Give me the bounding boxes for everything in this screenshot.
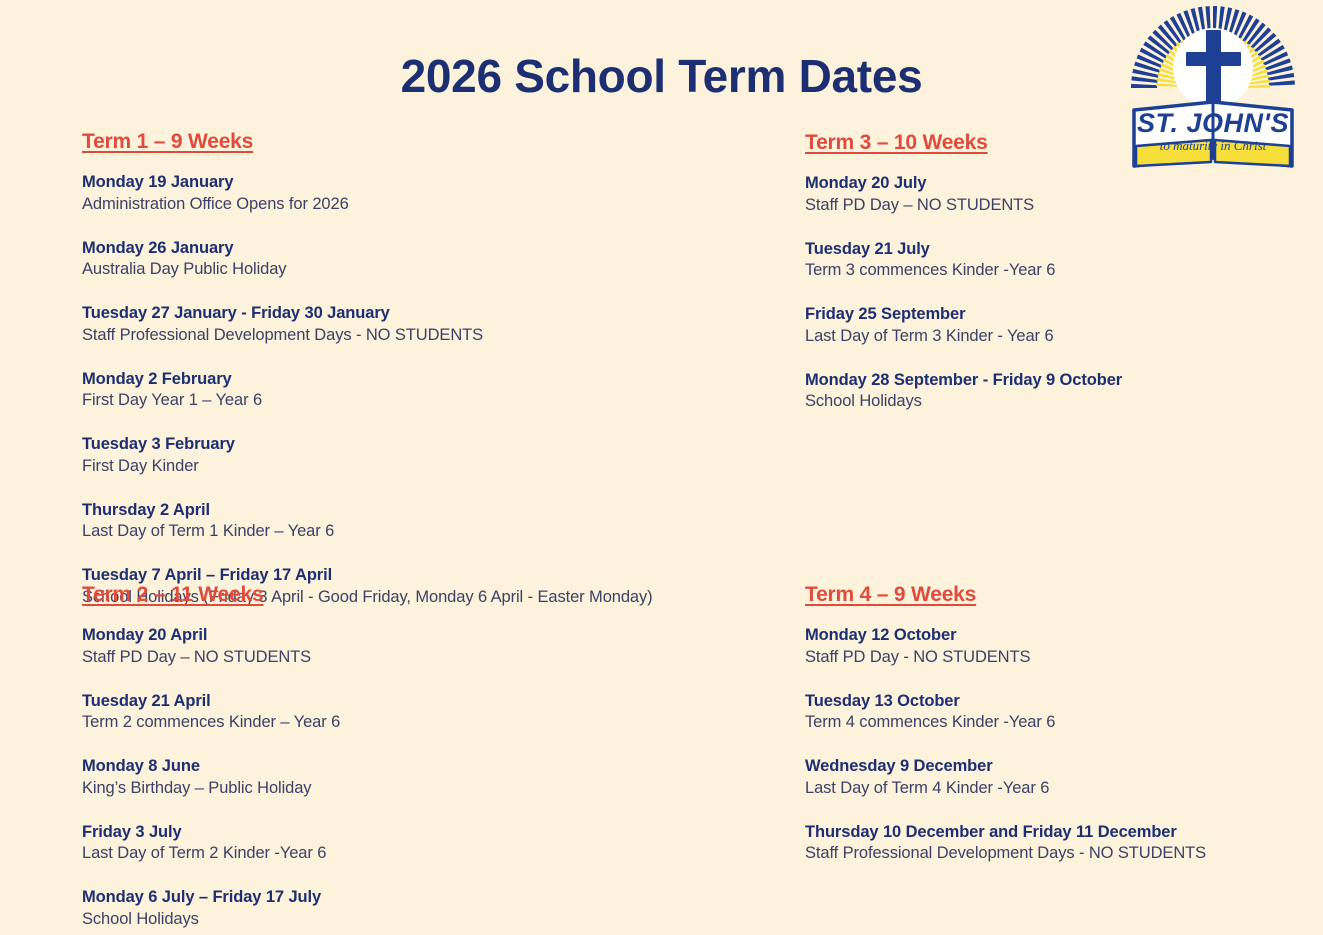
term-entry: Tuesday 13 October Term 4 commences Kind… bbox=[805, 691, 1305, 735]
term-entry: Tuesday 21 April Term 2 commences Kinder… bbox=[82, 691, 772, 735]
entry-date: Monday 28 September - Friday 9 October bbox=[805, 370, 1323, 392]
term-entry: Tuesday 21 July Term 3 commences Kinder … bbox=[805, 239, 1323, 283]
term-4-column: Term 4 – 9 Weeks Monday 12 October Staff… bbox=[805, 583, 1305, 865]
term-entry: Thursday 10 December and Friday 11 Decem… bbox=[805, 822, 1305, 866]
entry-description: Term 3 commences Kinder -Year 6 bbox=[805, 260, 1323, 282]
term-entry: Tuesday 3 February First Day Kinder bbox=[82, 434, 772, 478]
entry-description: Staff PD Day - NO STUDENTS bbox=[805, 647, 1305, 669]
term-entry: Monday 2 February First Day Year 1 – Yea… bbox=[82, 369, 772, 413]
entry-date: Monday 26 January bbox=[82, 238, 772, 260]
entry-date: Tuesday 21 April bbox=[82, 691, 772, 713]
entry-date: Tuesday 3 February bbox=[82, 434, 772, 456]
entry-description: Administration Office Opens for 2026 bbox=[82, 194, 772, 216]
term-3-column: Term 3 – 10 Weeks Monday 20 July Staff P… bbox=[805, 131, 1323, 413]
entry-date: Monday 8 June bbox=[82, 756, 772, 778]
entry-date: Monday 6 July – Friday 17 July bbox=[82, 887, 772, 909]
term-3-heading: Term 3 – 10 Weeks bbox=[805, 131, 988, 155]
term-entry: Monday 20 April Staff PD Day – NO STUDEN… bbox=[82, 625, 772, 669]
entry-date: Tuesday 13 October bbox=[805, 691, 1305, 713]
entry-date: Wednesday 9 December bbox=[805, 756, 1305, 778]
term-entry: Friday 3 July Last Day of Term 2 Kinder … bbox=[82, 822, 772, 866]
term-3-entries: Monday 20 July Staff PD Day – NO STUDENT… bbox=[805, 173, 1323, 413]
term-entry: Monday 20 July Staff PD Day – NO STUDENT… bbox=[805, 173, 1323, 217]
term-1-heading: Term 1 – 9 Weeks bbox=[82, 130, 253, 154]
term-2-entries: Monday 20 April Staff PD Day – NO STUDEN… bbox=[82, 625, 772, 931]
term-entry: Monday 8 June King’s Birthday – Public H… bbox=[82, 756, 772, 800]
entry-description: King’s Birthday – Public Holiday bbox=[82, 778, 772, 800]
entry-date: Monday 2 February bbox=[82, 369, 772, 391]
term-entry: Monday 19 January Administration Office … bbox=[82, 172, 772, 216]
term-entry: Monday 12 October Staff PD Day - NO STUD… bbox=[805, 625, 1305, 669]
term-entry: Monday 26 January Australia Day Public H… bbox=[82, 238, 772, 282]
term-2-column: Term 2 – 11 Weeks Monday 20 April Staff … bbox=[82, 583, 772, 931]
entry-description: First Day Year 1 – Year 6 bbox=[82, 390, 772, 412]
entry-date: Monday 20 April bbox=[82, 625, 772, 647]
entry-date: Thursday 10 December and Friday 11 Decem… bbox=[805, 822, 1305, 844]
entry-description: First Day Kinder bbox=[82, 456, 772, 478]
term-entry: Friday 25 September Last Day of Term 3 K… bbox=[805, 304, 1323, 348]
entry-description: Term 4 commences Kinder -Year 6 bbox=[805, 712, 1305, 734]
term-entry: Tuesday 27 January - Friday 30 January S… bbox=[82, 303, 772, 347]
term-4-heading: Term 4 – 9 Weeks bbox=[805, 583, 976, 607]
entry-description: Staff PD Day – NO STUDENTS bbox=[805, 195, 1323, 217]
entry-description: Staff Professional Development Days - NO… bbox=[805, 843, 1305, 865]
term-entry: Monday 6 July – Friday 17 July School Ho… bbox=[82, 887, 772, 931]
entry-date: Monday 19 January bbox=[82, 172, 772, 194]
entry-date: Friday 3 July bbox=[82, 822, 772, 844]
term-entry: Wednesday 9 December Last Day of Term 4 … bbox=[805, 756, 1305, 800]
entry-description: Last Day of Term 4 Kinder -Year 6 bbox=[805, 778, 1305, 800]
entry-description: School Holidays bbox=[805, 391, 1323, 413]
term-dates-page: 2026 School Term Dates bbox=[0, 0, 1323, 935]
entry-description: Last Day of Term 2 Kinder -Year 6 bbox=[82, 843, 772, 865]
entry-date: Monday 12 October bbox=[805, 625, 1305, 647]
entry-description: Australia Day Public Holiday bbox=[82, 259, 772, 281]
entry-description: School Holidays bbox=[82, 909, 772, 931]
entry-date: Monday 20 July bbox=[805, 173, 1323, 195]
entry-description: Last Day of Term 1 Kinder – Year 6 bbox=[82, 521, 772, 543]
entry-description: Term 2 commences Kinder – Year 6 bbox=[82, 712, 772, 734]
entry-description: Staff PD Day – NO STUDENTS bbox=[82, 647, 772, 669]
entry-date: Thursday 2 April bbox=[82, 500, 772, 522]
entry-date: Tuesday 27 January - Friday 30 January bbox=[82, 303, 772, 325]
entry-date: Tuesday 21 July bbox=[805, 239, 1323, 261]
term-entry: Thursday 2 April Last Day of Term 1 Kind… bbox=[82, 500, 772, 544]
term-1-column: Term 1 – 9 Weeks Monday 19 January Admin… bbox=[82, 130, 772, 609]
term-1-entries: Monday 19 January Administration Office … bbox=[82, 172, 772, 609]
entry-date: Friday 25 September bbox=[805, 304, 1323, 326]
entry-description: Last Day of Term 3 Kinder - Year 6 bbox=[805, 326, 1323, 348]
term-4-entries: Monday 12 October Staff PD Day - NO STUD… bbox=[805, 625, 1305, 865]
entry-description: Staff Professional Development Days - NO… bbox=[82, 325, 772, 347]
term-2-heading: Term 2 – 11 Weeks bbox=[82, 583, 263, 607]
term-entry: Monday 28 September - Friday 9 October S… bbox=[805, 370, 1323, 414]
